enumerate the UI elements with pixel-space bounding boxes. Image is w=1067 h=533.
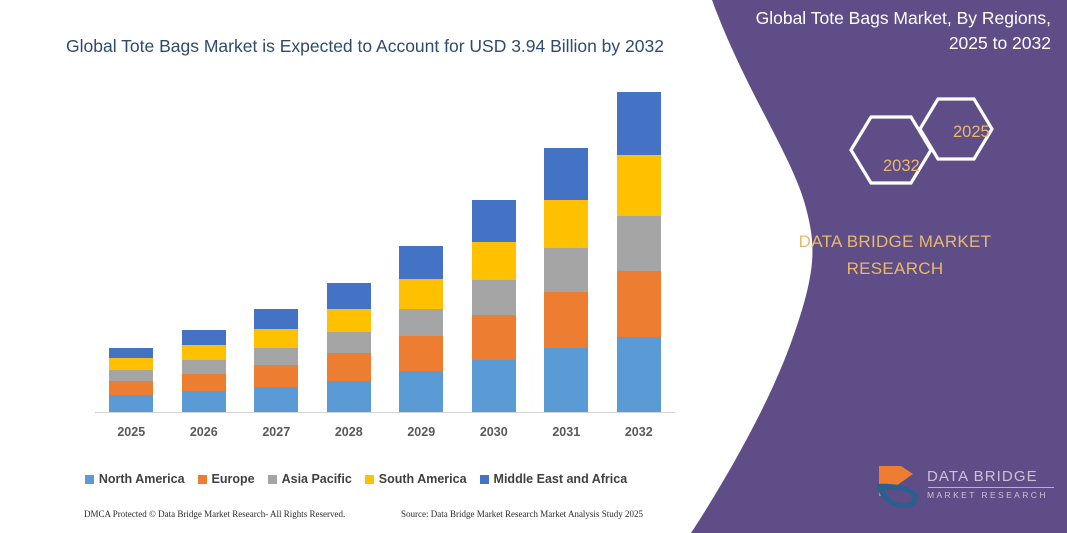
x-axis-label-2029: 2029 xyxy=(385,425,457,439)
chart-legend: North AmericaEuropeAsia PacificSouth Ame… xyxy=(0,472,712,486)
x-axis-labels: 20252026202720282029203020312032 xyxy=(95,425,675,443)
logo-mark-icon xyxy=(871,462,927,512)
bar-segment xyxy=(472,280,516,315)
hexagon-2025-label: 2025 xyxy=(953,123,990,142)
logo-divider xyxy=(928,487,1054,488)
legend-swatch-icon xyxy=(268,475,277,484)
bar-segment xyxy=(327,332,371,353)
bar-segment xyxy=(472,242,516,280)
legend-swatch-icon xyxy=(198,475,207,484)
bar-segment xyxy=(254,365,298,387)
x-axis-label-2026: 2026 xyxy=(168,425,240,439)
legend-label: South America xyxy=(379,472,467,486)
bar-segment xyxy=(254,309,298,329)
logo-line1: DATA BRIDGE xyxy=(927,468,1054,485)
x-axis-label-2032: 2032 xyxy=(603,425,675,439)
bar-segment xyxy=(182,330,226,345)
bar-segment xyxy=(544,200,588,248)
bar-2031 xyxy=(544,148,588,412)
bar-segment xyxy=(617,92,661,156)
x-axis-line xyxy=(95,412,675,413)
bar-segment xyxy=(182,391,226,412)
bar-segment xyxy=(544,292,588,347)
bar-segment xyxy=(472,315,516,359)
plot-area xyxy=(95,110,675,413)
logo-line2: MARKET RESEARCH xyxy=(927,490,1054,500)
brand-name: DATA BRIDGE MARKET RESEARCH xyxy=(755,228,1035,282)
chart-title: Global Tote Bags Market is Expected to A… xyxy=(60,32,670,61)
bar-segment xyxy=(109,370,153,381)
footer-source: Source: Data Bridge Market Research Mark… xyxy=(401,509,643,519)
bar-segment xyxy=(617,216,661,271)
bar-segment xyxy=(617,155,661,216)
legend-label: Europe xyxy=(212,472,255,486)
legend-item[interactable]: North America xyxy=(85,472,185,486)
bar-segment xyxy=(327,353,371,381)
bar-segment xyxy=(617,271,661,337)
logo-wordmark: DATA BRIDGE MARKET RESEARCH xyxy=(927,468,1054,500)
legend-item[interactable]: South America xyxy=(365,472,467,486)
bar-segment xyxy=(182,360,226,374)
bar-segment xyxy=(399,246,443,279)
footer-copyright: DMCA Protected © Data Bridge Market Rese… xyxy=(84,509,345,519)
bar-segment xyxy=(327,309,371,332)
x-axis-label-2027: 2027 xyxy=(240,425,312,439)
bar-segment xyxy=(182,374,226,392)
panel-title: Global Tote Bags Market, By Regions, 202… xyxy=(739,6,1051,56)
bar-2030 xyxy=(472,200,516,412)
bar-segment xyxy=(109,358,153,369)
data-bridge-logo: DATA BRIDGE MARKET RESEARCH xyxy=(871,462,1061,514)
legend-swatch-icon xyxy=(365,475,374,484)
legend-item[interactable]: Asia Pacific xyxy=(268,472,352,486)
x-axis-label-2028: 2028 xyxy=(313,425,385,439)
x-axis-label-2025: 2025 xyxy=(95,425,167,439)
hexagon-group: 2025 2032 xyxy=(815,95,1067,205)
bar-segment xyxy=(617,337,661,412)
bar-segment xyxy=(182,345,226,360)
bar-segment xyxy=(544,348,588,412)
footer: DMCA Protected © Data Bridge Market Rese… xyxy=(0,506,712,526)
bar-segment xyxy=(254,329,298,347)
legend-item[interactable]: Middle East and Africa xyxy=(480,472,628,486)
x-axis-label-2030: 2030 xyxy=(458,425,530,439)
legend-swatch-icon xyxy=(85,475,94,484)
bar-segment xyxy=(544,248,588,292)
bar-segment xyxy=(472,200,516,242)
bar-segment xyxy=(399,371,443,412)
infographic-slide: Global Tote Bags Market, By Regions, 202… xyxy=(0,0,1067,533)
bar-segment xyxy=(254,348,298,365)
bar-2025 xyxy=(109,348,153,412)
bar-2028 xyxy=(327,283,371,412)
legend-swatch-icon xyxy=(480,475,489,484)
hexagon-2032-label: 2032 xyxy=(883,157,920,176)
bar-segment xyxy=(399,309,443,337)
bar-segment xyxy=(109,348,153,359)
bar-2029 xyxy=(399,246,443,412)
bar-segment xyxy=(254,387,298,412)
panel-content: Global Tote Bags Market, By Regions, 202… xyxy=(735,0,1067,533)
bar-segment xyxy=(544,148,588,200)
bar-segment xyxy=(399,279,443,309)
bar-segment xyxy=(399,336,443,371)
bar-segment xyxy=(327,283,371,308)
bar-segment xyxy=(472,360,516,412)
bar-segment xyxy=(109,381,153,396)
x-axis-label-2031: 2031 xyxy=(530,425,602,439)
bar-segment xyxy=(109,395,153,412)
legend-item[interactable]: Europe xyxy=(198,472,255,486)
legend-label: North America xyxy=(99,472,185,486)
legend-label: Asia Pacific xyxy=(282,472,352,486)
legend-label: Middle East and Africa xyxy=(494,472,628,486)
bar-segment xyxy=(327,381,371,412)
bar-2026 xyxy=(182,330,226,412)
bar-2027 xyxy=(254,309,298,412)
bar-2032 xyxy=(617,92,661,412)
